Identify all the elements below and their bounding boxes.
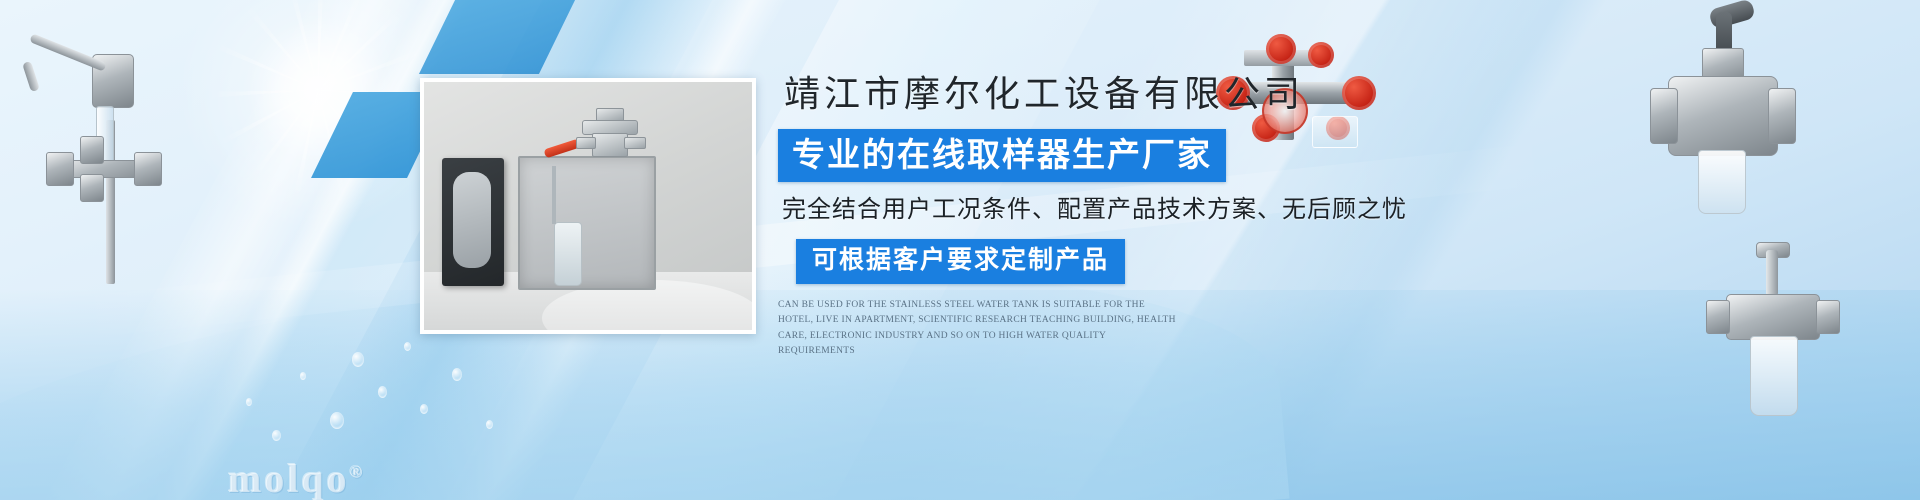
sampler-flange (1706, 300, 1730, 334)
red-handwheel-icon (1266, 34, 1296, 64)
watermark-text: molqo (228, 456, 350, 500)
water-droplet-icon (246, 398, 252, 406)
banner-text-column: 靖江市摩尔化工设备有限公司 专业的在线取样器生产厂家 完全结合用户工况条件、配置… (778, 74, 1418, 359)
company-name: 靖江市摩尔化工设备有限公司 (778, 74, 1418, 116)
sample-tube (552, 166, 556, 224)
sampler-stem (1766, 250, 1778, 296)
watermark-logo: molqo® (228, 455, 365, 500)
manifold-nozzle (134, 152, 162, 186)
water-droplet-icon (452, 368, 462, 381)
water-droplet-icon (330, 412, 344, 429)
product-photo (420, 78, 756, 334)
cta-wrapper: 可根据客户要求定制产品 (778, 225, 1418, 284)
water-droplet-icon (352, 352, 364, 367)
bottle-sampler-image (1700, 250, 1850, 440)
manifold-nozzle (80, 174, 104, 202)
sample-bottle (554, 222, 582, 286)
valve-head-assembly (574, 108, 648, 162)
valve-part (592, 133, 628, 157)
valve-body (1668, 76, 1778, 156)
manifold-nozzle (46, 152, 74, 186)
registered-mark-icon: ® (350, 463, 366, 482)
sampler-body (1726, 294, 1820, 340)
manifold-nozzle (80, 136, 104, 164)
water-droplet-icon (300, 372, 306, 380)
custom-order-cta[interactable]: 可根据客户要求定制产品 (796, 239, 1125, 284)
valve-part (624, 137, 646, 149)
sampler-flange (1816, 300, 1840, 334)
water-droplet-icon (420, 404, 428, 414)
headline-wrapper: 专业的在线取样器生产厂家 (778, 116, 1418, 182)
english-description: CAN BE USED FOR THE STAINLESS STEEL WATE… (778, 298, 1178, 360)
lever-valve-image (1658, 30, 1798, 220)
red-handwheel-icon (1308, 42, 1334, 68)
sub-headline: 完全结合用户工况条件、配置产品技术方案、无后顾之忧 (778, 195, 1418, 225)
support-arm (22, 61, 40, 92)
support-arm (29, 33, 107, 71)
valve-flange (1650, 88, 1678, 144)
sampler-cabinet (518, 156, 656, 290)
sampler-assembly-left-image (10, 28, 170, 308)
headline-highlight: 专业的在线取样器生产厂家 (778, 129, 1226, 182)
valve-part (576, 137, 596, 149)
cabinet-door (442, 158, 504, 286)
water-droplet-icon (272, 430, 281, 441)
water-droplet-icon (486, 420, 493, 429)
promo-banner: 靖江市摩尔化工设备有限公司 专业的在线取样器生产厂家 完全结合用户工况条件、配置… (0, 0, 1920, 500)
valve-flange (1768, 88, 1796, 144)
water-droplet-icon (378, 386, 387, 398)
sample-jar (1750, 336, 1798, 416)
sample-jar (1698, 150, 1746, 214)
water-droplet-icon (404, 342, 411, 351)
